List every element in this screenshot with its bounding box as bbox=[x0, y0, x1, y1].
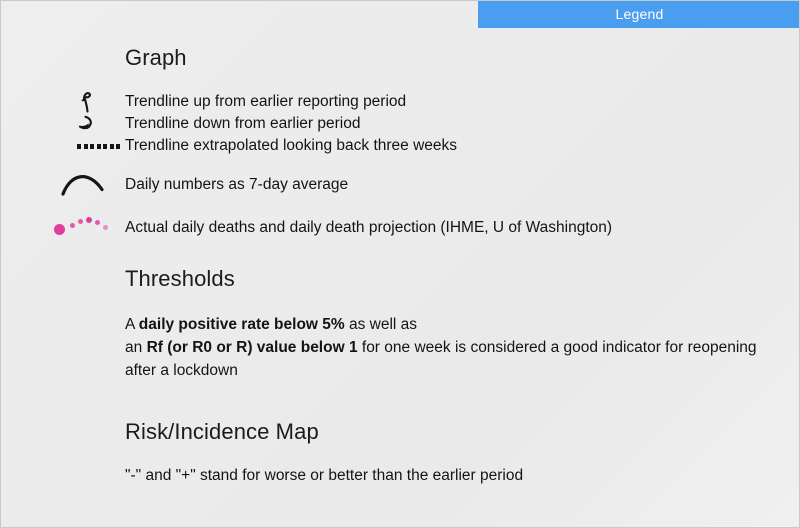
legend-row-label: Actual daily deaths and daily death proj… bbox=[125, 217, 612, 239]
legend-row-label: Daily numbers as 7-day average bbox=[125, 174, 348, 196]
threshold-line-rf-value: an Rf (or R0 or R) value below 1 for one… bbox=[125, 336, 765, 382]
section-heading-risk-incidence-map: Risk/Incidence Map bbox=[125, 419, 319, 445]
legend-row-seven-day-average: Daily numbers as 7-day average bbox=[1, 174, 800, 196]
threshold-line-positive-rate: A daily positive rate below 5% as well a… bbox=[125, 313, 765, 336]
legend-row-trendline-dotted: Trendline extrapolated looking back thre… bbox=[1, 135, 800, 157]
dotted-line-icon bbox=[51, 135, 121, 157]
curve-arc-icon bbox=[51, 168, 121, 200]
thresholds-paragraph: A daily positive rate below 5% as well a… bbox=[125, 313, 765, 382]
section-heading-thresholds: Thresholds bbox=[125, 266, 235, 292]
legend-row-daily-deaths: Actual daily deaths and daily death proj… bbox=[1, 217, 800, 239]
legend-row-trendline-down: Trendline down from earlier period bbox=[1, 113, 800, 135]
legend-row-trendline-up: Trendline up from earlier reporting peri… bbox=[1, 91, 800, 113]
risk-map-caption: "-" and "+" stand for worse or better th… bbox=[125, 465, 523, 487]
threshold-line2-prefix: an bbox=[125, 339, 147, 356]
trendline-down-arrow-icon bbox=[51, 113, 121, 135]
threshold-line1-bold: daily positive rate below 5% bbox=[139, 316, 345, 333]
threshold-line1-suffix: as well as bbox=[345, 316, 417, 333]
legend-page: Legend Graph Trendline up from earlier r… bbox=[0, 0, 800, 528]
legend-row-label: Trendline up from earlier reporting peri… bbox=[125, 91, 406, 113]
threshold-line2-bold: Rf (or R0 or R) value below 1 bbox=[147, 339, 358, 356]
trendline-up-arrow-icon bbox=[51, 91, 121, 113]
legend-row-label: Trendline down from earlier period bbox=[125, 113, 360, 135]
pink-dots-icon bbox=[51, 217, 121, 239]
legend-banner-title: Legend bbox=[478, 1, 800, 28]
section-heading-graph: Graph bbox=[125, 45, 187, 71]
threshold-line1-prefix: A bbox=[125, 316, 139, 333]
legend-row-label: Trendline extrapolated looking back thre… bbox=[125, 135, 457, 157]
